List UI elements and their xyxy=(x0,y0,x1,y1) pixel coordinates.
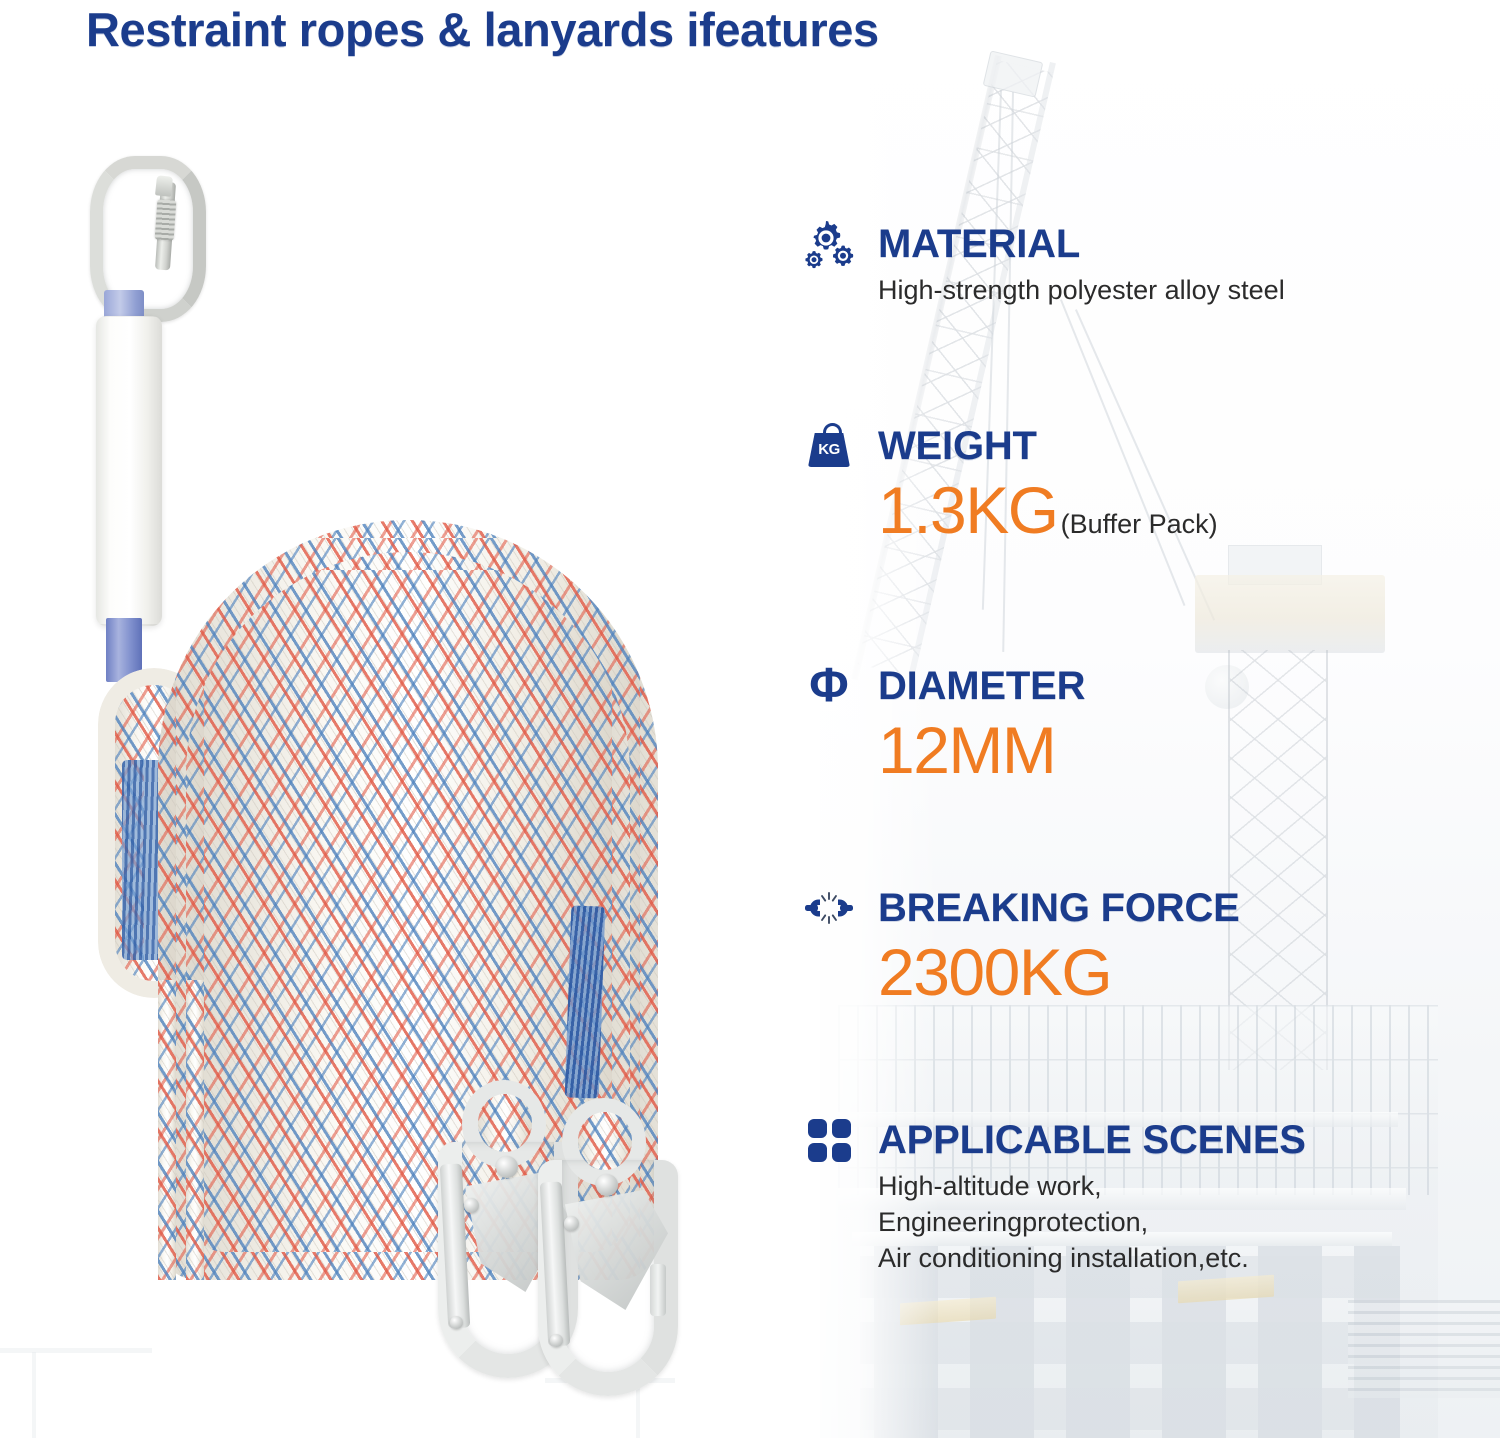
feature-value-row: 1.3KG (Buffer Pack) xyxy=(878,476,1500,545)
product-photo xyxy=(40,120,800,1400)
weight-icon-label: KG xyxy=(806,441,852,458)
feature-label: BREAKING FORCE xyxy=(878,886,1240,931)
hook-rivet xyxy=(464,1198,479,1213)
feature-material: MATERIAL High-strength polyester alloy s… xyxy=(800,216,1500,308)
feature-list: MATERIAL High-strength polyester alloy s… xyxy=(800,0,1500,1438)
feature-diameter: Φ DIAMETER 12MM xyxy=(800,658,1500,785)
rope-leg xyxy=(186,980,204,1280)
feature-heading: APPLICABLE SCENES xyxy=(800,1112,1500,1168)
rope-leg xyxy=(158,980,176,1280)
carabiner-nose xyxy=(155,175,173,197)
kg-weight-icon: KG xyxy=(800,423,858,469)
page-title: Restraint ropes & lanyards ifeatures xyxy=(86,2,879,57)
feature-weight: KG WEIGHT 1.3KG (Buffer Pack) xyxy=(800,418,1500,545)
feature-description: High-strength polyester alloy steel xyxy=(878,272,1500,308)
feature-label: WEIGHT xyxy=(878,424,1037,469)
grid-square xyxy=(832,1143,851,1162)
grid-squares-icon xyxy=(800,1119,858,1162)
phi-diameter-icon: Φ xyxy=(800,662,858,710)
grid-square xyxy=(832,1119,851,1138)
hook-pivot-rivet xyxy=(496,1156,518,1178)
feature-label: MATERIAL xyxy=(878,222,1080,267)
hook-keeper-latch xyxy=(650,1264,666,1316)
feature-heading: Φ DIAMETER xyxy=(800,658,1500,714)
grid-square xyxy=(808,1143,827,1162)
feature-value-row: 2300KG xyxy=(878,938,1500,1007)
gears-icon xyxy=(800,219,858,269)
breaking-chain-icon xyxy=(800,889,858,927)
feature-value: 1.3KG xyxy=(878,476,1058,545)
hook-rivet xyxy=(564,1216,579,1231)
hook-rivet xyxy=(450,1316,463,1329)
phi-glyph: Φ xyxy=(809,662,848,710)
feature-label: DIAMETER xyxy=(878,664,1085,709)
feature-value-row: 12MM xyxy=(878,716,1500,785)
grid-square xyxy=(808,1119,827,1138)
feature-note: (Buffer Pack) xyxy=(1061,509,1218,540)
feature-label: APPLICABLE SCENES xyxy=(878,1118,1306,1163)
feature-heading: BREAKING FORCE xyxy=(800,880,1500,936)
feature-heading: KG WEIGHT xyxy=(800,418,1500,474)
rebar-snap-hook xyxy=(538,1098,688,1398)
hook-pivot-rivet xyxy=(596,1174,618,1196)
feature-applicable-scenes: APPLICABLE SCENES High-altitude work, En… xyxy=(800,1112,1500,1277)
distant-crane-mast xyxy=(32,1352,36,1438)
feature-value: 2300KG xyxy=(878,938,1111,1007)
feature-description: High-altitude work, Engineeringprotectio… xyxy=(878,1168,1500,1277)
shock-absorber-seam xyxy=(96,316,162,626)
feature-breaking-force: BREAKING FORCE 2300KG xyxy=(800,880,1500,1007)
rope-whipping-stitching-lower xyxy=(565,905,606,1098)
hook-rivet xyxy=(550,1334,563,1347)
feature-value: 12MM xyxy=(878,716,1055,785)
feature-heading: MATERIAL xyxy=(800,216,1500,272)
product-infographic: Restraint ropes & lanyards ifeatures xyxy=(0,0,1500,1438)
carabiner-screw-lock-sleeve xyxy=(155,199,177,240)
